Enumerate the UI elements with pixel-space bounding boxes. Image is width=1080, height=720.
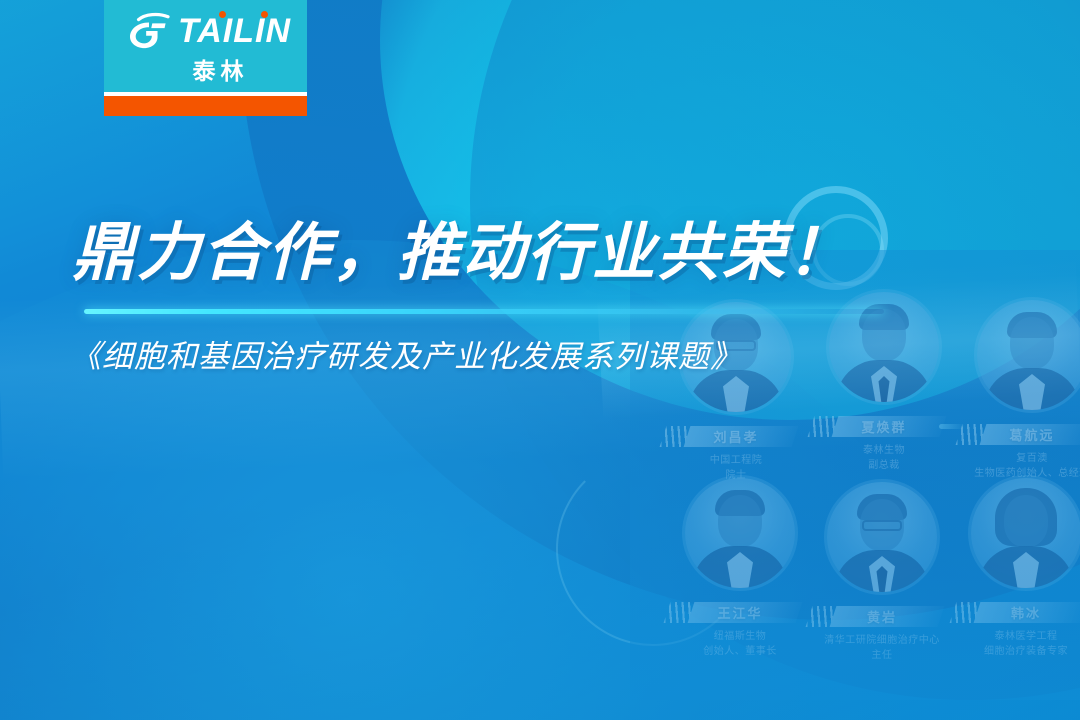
page-title: 鼎力合作，推动行业共荣！ xyxy=(72,221,852,285)
logo-content: TAILIN 泰林 xyxy=(104,0,307,98)
speaker-role-line2: 主任 xyxy=(816,649,948,664)
speaker-role: 纽福斯生物 创始人、董事长 xyxy=(674,630,806,659)
logo-wordmark: TAILIN xyxy=(178,14,291,48)
speaker-name: 黄岩 xyxy=(867,607,897,626)
speaker-role-line1: 纽福斯生物 xyxy=(674,630,806,645)
speaker-role-line1: 清华工研院细胞治疗中心 xyxy=(816,634,948,649)
speaker-name-banner: 黄岩 xyxy=(823,606,941,627)
speaker-role: 泰林医学工程 细胞治疗装备专家 xyxy=(960,630,1080,659)
speaker-card: 韩冰 泰林医学工程 细胞治疗装备专家 xyxy=(960,478,1080,659)
speaker-role: 泰林生物 副总裁 xyxy=(818,444,950,473)
speaker-role-line2: 细胞治疗装备专家 xyxy=(960,645,1080,660)
logo-dot-icon xyxy=(261,11,268,18)
tailin-logo: TAILIN 泰林 xyxy=(104,0,307,116)
speaker-name-banner: 王江华 xyxy=(681,602,799,623)
title-accent-rule xyxy=(84,309,884,314)
portrait-head xyxy=(718,495,762,547)
speaker-card: 夏焕群 泰林生物 副总裁 xyxy=(818,292,950,473)
portrait-head xyxy=(1010,317,1054,369)
avatar xyxy=(685,478,795,588)
speaker-name: 夏焕群 xyxy=(861,417,906,436)
speaker-role-line1: 泰林医学工程 xyxy=(960,630,1080,645)
speaker-name-banner: 韩冰 xyxy=(967,602,1080,623)
speaker-card: 刘昌孝 中国工程院 院士 xyxy=(670,302,802,483)
logo-dot-icon xyxy=(219,11,226,18)
promo-banner: 刘昌孝 中国工程院 院士 夏焕群 泰林生物 xyxy=(0,0,1080,720)
speaker-name: 王江华 xyxy=(717,603,762,622)
speaker-role-line1: 中国工程院 xyxy=(670,454,802,469)
speaker-card: 葛航远 复百澳 生物医药创始人、总经理 xyxy=(966,300,1080,481)
avatar xyxy=(977,300,1080,410)
speaker-role-line2: 创始人、董事长 xyxy=(674,645,806,660)
portrait-head xyxy=(862,309,906,361)
speaker-card: 黄岩 清华工研院细胞治疗中心 主任 xyxy=(816,482,948,663)
speaker-name-banner: 葛航远 xyxy=(973,424,1080,445)
speaker-role: 清华工研院细胞治疗中心 主任 xyxy=(816,634,948,663)
speaker-name: 韩冰 xyxy=(1011,603,1041,622)
tailin-swoosh-mark-icon xyxy=(126,12,172,50)
avatar xyxy=(971,478,1080,588)
speaker-name-banner: 夏焕群 xyxy=(825,416,943,437)
logo-orange-bar xyxy=(104,96,307,116)
speaker-card: 王江华 纽福斯生物 创始人、董事长 xyxy=(674,478,806,659)
speaker-role-line1: 复百澳 xyxy=(966,452,1080,467)
avatar xyxy=(827,482,937,592)
glasses-icon xyxy=(862,520,902,531)
speaker-role: 复百澳 生物医药创始人、总经理 xyxy=(966,452,1080,481)
portrait-head xyxy=(1004,495,1048,547)
speaker-name: 刘昌孝 xyxy=(713,427,758,446)
speaker-role-line2: 副总裁 xyxy=(818,459,950,474)
logo-lockup: TAILIN xyxy=(126,12,291,50)
speaker-name-banner: 刘昌孝 xyxy=(677,426,795,447)
page-subtitle: 《细胞和基因治疗研发及产业化发展系列课题》 xyxy=(70,331,742,376)
speaker-name: 葛航远 xyxy=(1009,425,1054,444)
speaker-role-line1: 泰林生物 xyxy=(818,444,950,459)
logo-chinese-name: 泰林 xyxy=(193,52,249,86)
